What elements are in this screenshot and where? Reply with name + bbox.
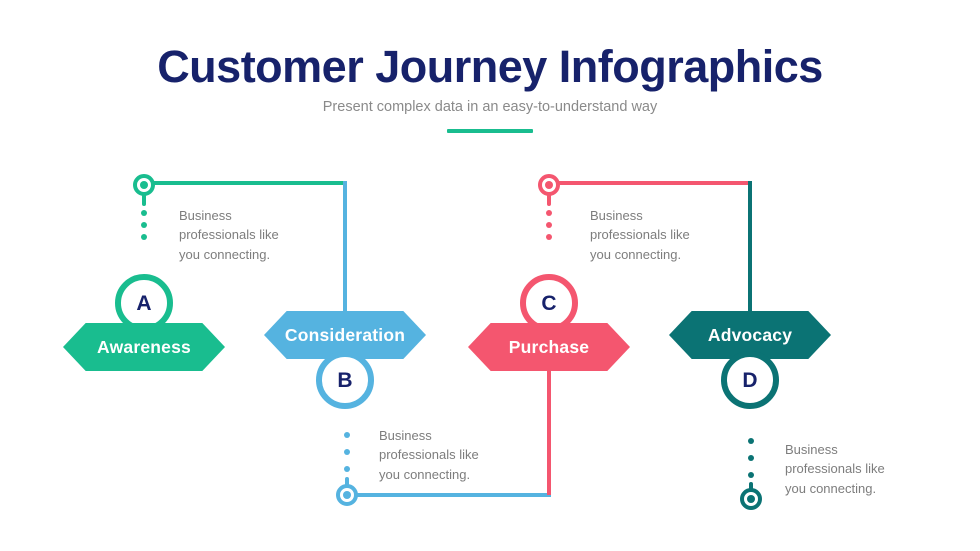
stage-stem-a (142, 194, 146, 206)
stage-dot-d-3 (748, 472, 754, 478)
stage-dot-d-2 (748, 455, 754, 461)
stage-badge-b-letter: B (337, 370, 352, 391)
stage-marker-b-core (343, 491, 351, 499)
stage-dot-b-2 (344, 449, 350, 455)
stage-badge-d-letter: D (742, 370, 757, 391)
stage-dot-b-1 (344, 432, 350, 438)
stage-dot-a-3 (141, 234, 147, 240)
stage-dot-c-2 (546, 222, 552, 228)
stage-caption-b: Business professionals like you connecti… (379, 426, 539, 484)
infographic-canvas: Customer Journey Infographics Present co… (0, 0, 980, 551)
stage-label-purchase: Purchase (509, 337, 589, 358)
page-title: Customer Journey Infographics (0, 41, 980, 93)
stage-dot-c-1 (546, 210, 552, 216)
stage-stem-c (547, 194, 551, 206)
stage-dot-a-1 (141, 210, 147, 216)
stage-marker-c-core (545, 181, 553, 189)
page-subtitle: Present complex data in an easy-to-under… (0, 99, 980, 115)
stage-badge-c-letter: C (541, 293, 556, 314)
stage-marker-a[interactable] (133, 174, 155, 196)
stage-label-consideration: Consideration (285, 325, 405, 346)
stage-label-advocacy: Advocacy (708, 325, 792, 346)
stage-marker-b[interactable] (336, 484, 358, 506)
connector-line-a-horizontal (144, 181, 347, 185)
stage-dot-d-1 (748, 438, 754, 444)
stage-badge-d[interactable]: D (721, 351, 779, 409)
stage-marker-d-core (747, 495, 755, 503)
stage-caption-c: Business professionals like you connecti… (590, 206, 750, 264)
title-accent-bar (447, 129, 533, 133)
connector-line-c-horizontal (549, 181, 752, 185)
stage-marker-d[interactable] (740, 488, 762, 510)
stage-marker-c[interactable] (538, 174, 560, 196)
stage-badge-a-letter: A (136, 293, 151, 314)
connector-line-c-vertical-lower (547, 352, 551, 495)
stage-caption-a: Business professionals like you connecti… (179, 206, 339, 264)
connector-line-b-vertical (343, 181, 347, 321)
stage-badge-b[interactable]: B (316, 351, 374, 409)
stage-caption-d: Business professionals like you connecti… (785, 440, 945, 498)
stage-hexagon-awareness[interactable]: Awareness (63, 323, 225, 371)
connector-line-b-horizontal (346, 493, 551, 497)
stage-marker-a-core (140, 181, 148, 189)
stage-hexagon-purchase[interactable]: Purchase (468, 323, 630, 371)
stage-dot-b-3 (344, 466, 350, 472)
stage-dot-c-3 (546, 234, 552, 240)
stage-dot-a-2 (141, 222, 147, 228)
stage-label-awareness: Awareness (97, 337, 191, 358)
